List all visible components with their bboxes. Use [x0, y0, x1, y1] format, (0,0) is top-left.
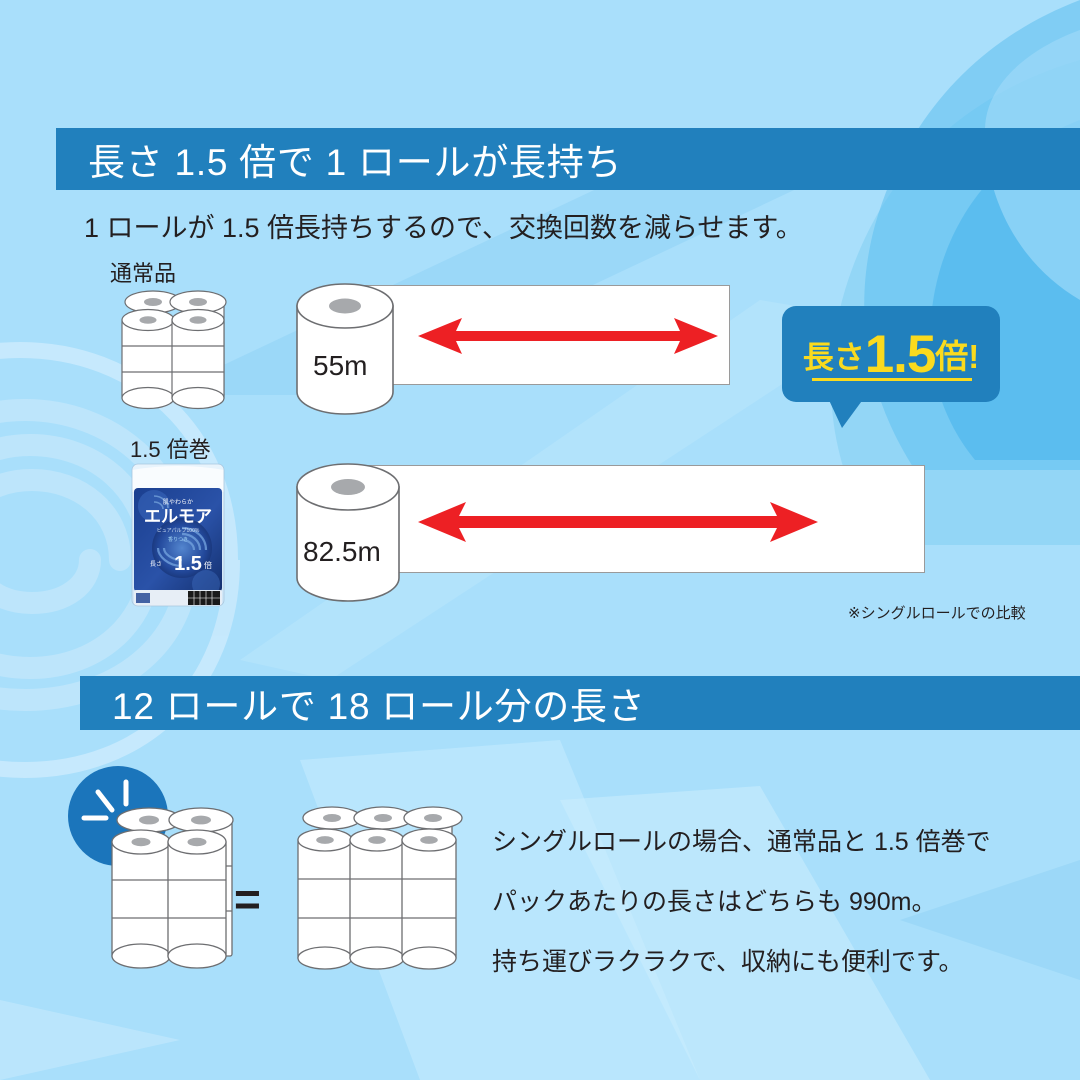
badge-tail [828, 398, 864, 428]
section-two-header-band: 12 ロールで 18 ロール分の長さ [80, 676, 1080, 730]
regular-roll-measure-label: 55m [313, 350, 367, 382]
section-two-title: 12 ロールで 18 ロール分の長さ [80, 676, 645, 730]
long-roll-front-illustration [290, 462, 406, 604]
badge-number: 1.5 [865, 324, 936, 385]
twelve-roll-stack-illustration [100, 800, 250, 980]
body-line-1: シングルロールの場合、通常品と 1.5 倍巻で [492, 812, 991, 872]
product-package-image: 肌やわらか エルモア ピュアパルプ100% 香りつき 長さ 1.5 倍 [130, 462, 226, 608]
badge-underline [812, 378, 972, 381]
package-tagline: 肌やわらか [163, 498, 193, 506]
body-line-3: 持ち運びラクラクで、収納にも便利です。 [492, 932, 991, 992]
eighteen-roll-stack-illustration [288, 796, 473, 986]
equals-sign: = [234, 872, 261, 926]
regular-roll-front-illustration [290, 282, 400, 416]
body-line-2: パックあたりの長さはどちらも 990m。 [492, 872, 991, 932]
badge-text: 長さ 1.5 倍! [782, 306, 1000, 402]
section-two-body-text: シングルロールの場合、通常品と 1.5 倍巻で パックあたりの長さはどちらも 9… [492, 812, 991, 992]
length-multiplier-badge: 長さ 1.5 倍! [782, 306, 1000, 402]
long-roll-stack-label: 1.5 倍巻 [130, 432, 211, 464]
package-multiplier-label: 長さ [150, 561, 162, 568]
package-sub-text: ピュアパルプ100% [157, 528, 200, 534]
section-one-title: 長さ 1.5 倍で 1 ロールが長持ち [56, 132, 622, 186]
long-roll-measure-label: 82.5m [303, 536, 381, 568]
badge-prefix: 長さ [803, 332, 865, 377]
badge-suffix: 倍! [935, 330, 979, 378]
section-one-lead-text: 1 ロールが 1.5 倍長持ちするので、交換回数を減らせます。 [84, 206, 803, 245]
package-multiplier-value: 1.5 [174, 553, 202, 575]
package-brand-text: エルモア [144, 507, 212, 526]
long-length-arrow [418, 500, 818, 544]
regular-roll-stack-illustration [110, 278, 240, 410]
section-one-header-band: 長さ 1.5 倍で 1 ロールが長持ち [56, 128, 1080, 190]
package-sub-text-2: 香りつき [168, 536, 188, 543]
infographic-page: 長さ 1.5 倍で 1 ロールが長持ち 1 ロールが 1.5 倍長持ちするので、… [0, 0, 1080, 1080]
regular-length-arrow [418, 316, 718, 356]
comparison-footnote: ※シングルロールでの比較 [848, 602, 1026, 623]
package-multiplier-unit: 倍 [204, 560, 212, 570]
